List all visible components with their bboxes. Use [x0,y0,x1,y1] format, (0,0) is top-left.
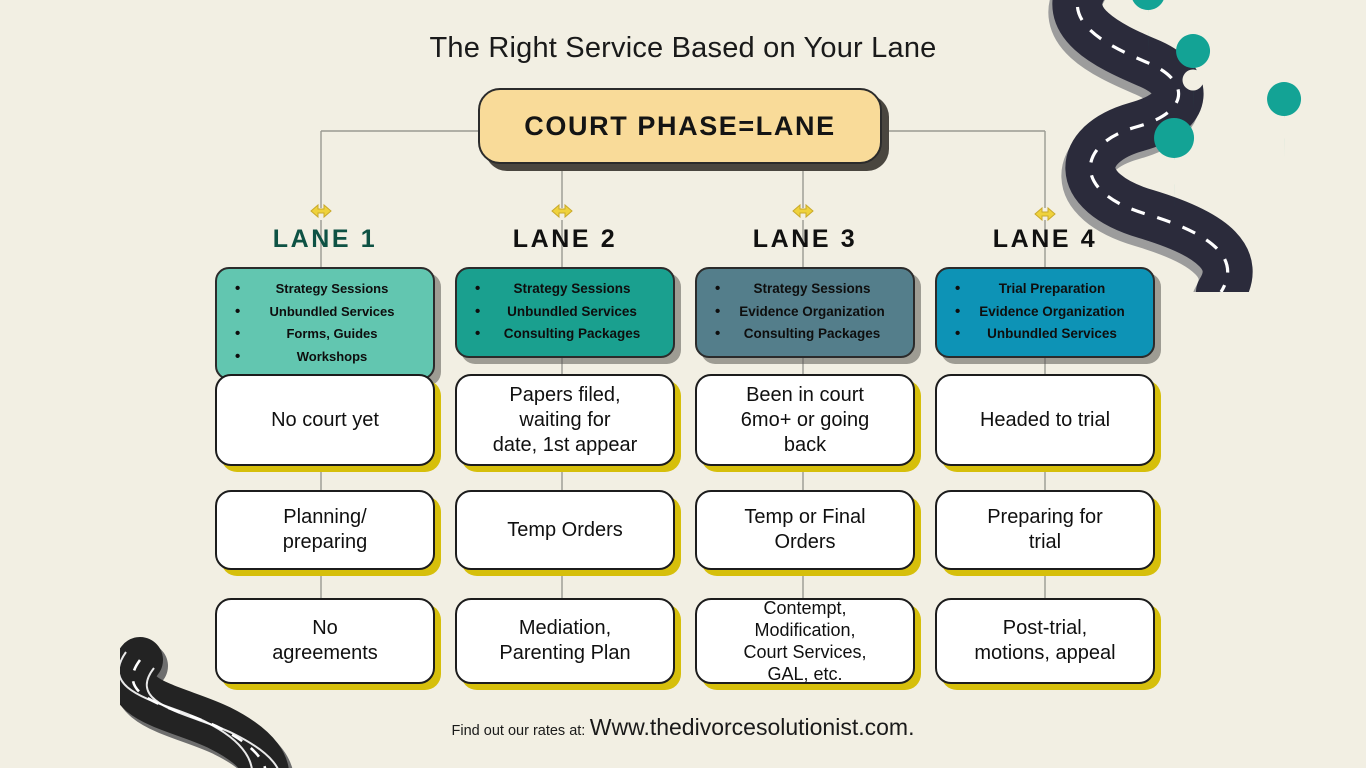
lane-column-2: LANE 2 Strategy Sessions Unbundled Servi… [445,222,685,380]
service-item: Unbundled Services [223,301,427,324]
lane-services-card-2: Strategy Sessions Unbundled Services Con… [455,267,675,358]
court-phase-header: COURT PHASE=LANE [478,88,882,164]
court-phase-header-label: COURT PHASE=LANE [524,111,835,142]
stage-card: Headed to trial [935,374,1155,466]
lane-column-3: LANE 3 Strategy Sessions Evidence Organi… [685,222,925,380]
lane-column-4: LANE 4 Trial Preparation Evidence Organi… [925,222,1165,380]
stage-card: Contempt, Modification, Court Services, … [695,598,915,684]
service-item: Evidence Organization [703,301,907,324]
service-item: Strategy Sessions [703,278,907,301]
service-item: Evidence Organization [943,301,1147,324]
service-item: Forms, Guides [223,323,427,346]
service-item: Consulting Packages [463,323,667,346]
stage-card: No court yet [215,374,435,466]
stage-card: Temp or Final Orders [695,490,915,570]
stage-row-1: No court yet Papers filed, waiting for d… [205,374,1165,466]
lane-title-1: LANE 1 [205,222,445,262]
stage-card: Been in court 6mo+ or going back [695,374,915,466]
page-title: The Right Service Based on Your Lane [0,32,1366,65]
lane-services-card-4: Trial Preparation Evidence Organization … [935,267,1155,358]
service-item: Unbundled Services [943,323,1147,346]
stage-card: Temp Orders [455,490,675,570]
footer-prefix: Find out our rates at: [452,723,586,739]
lane-services-card-1: Strategy Sessions Unbundled Services For… [215,267,435,380]
service-item: Workshops [223,346,427,369]
service-item: Unbundled Services [463,301,667,324]
footer: Find out our rates at: Www.thedivorcesol… [0,714,1366,741]
service-item: Trial Preparation [943,278,1147,301]
service-item: Consulting Packages [703,323,907,346]
lane-services-card-3: Strategy Sessions Evidence Organization … [695,267,915,358]
service-item: Strategy Sessions [463,278,667,301]
stage-card: Preparing for trial [935,490,1155,570]
lane-title-3: LANE 3 [685,222,925,262]
stage-card: Planning/ preparing [215,490,435,570]
lane-column-1: LANE 1 Strategy Sessions Unbundled Servi… [205,222,445,380]
stage-card: Post-trial, motions, appeal [935,598,1155,684]
stage-card: No agreements [215,598,435,684]
stage-card: Mediation, Parenting Plan [455,598,675,684]
lane-title-4: LANE 4 [925,222,1165,262]
stage-row-3: No agreements Mediation, Parenting Plan … [205,598,1165,684]
lanes-container: LANE 1 Strategy Sessions Unbundled Servi… [205,222,1165,380]
service-item: Strategy Sessions [223,278,427,301]
footer-url[interactable]: Www.thedivorcesolutionist.com. [590,714,915,740]
double-arrow-marker-icon [1035,208,1055,220]
infographic-canvas: The Right Service Based on Your Lane COU… [0,0,1366,768]
lane-title-2: LANE 2 [445,222,685,262]
stage-row-2: Planning/ preparing Temp Orders Temp or … [205,490,1165,570]
stage-card: Papers filed, waiting for date, 1st appe… [455,374,675,466]
